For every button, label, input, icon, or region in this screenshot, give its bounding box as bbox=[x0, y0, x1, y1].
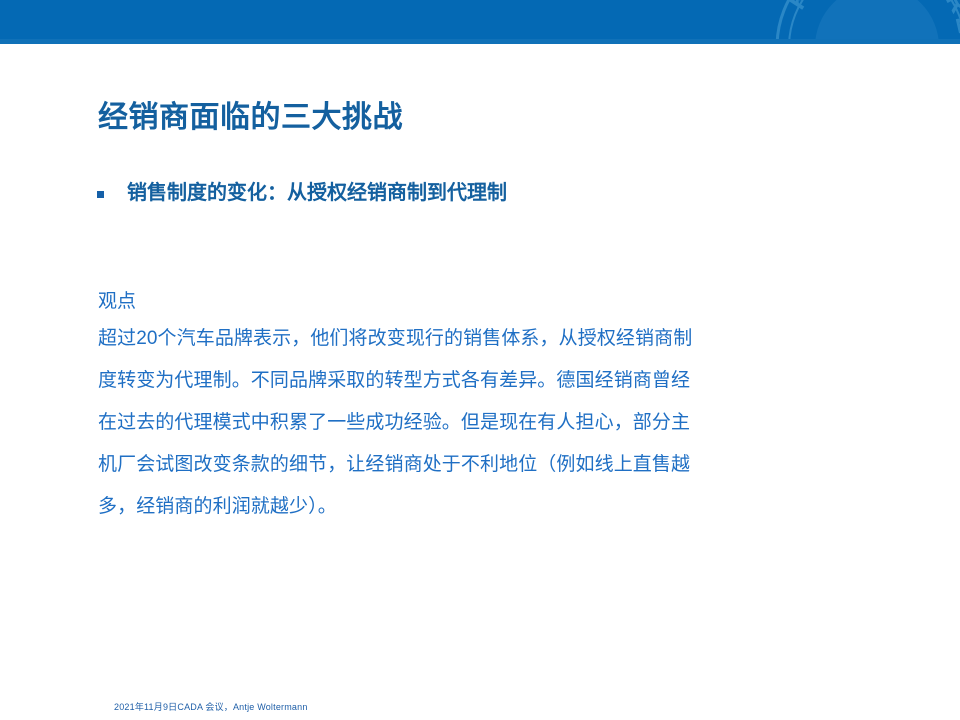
body-heading: 观点 bbox=[98, 287, 888, 316]
header-band: KRAFTFAHRZEUG bbox=[0, 0, 960, 44]
kraftfahrzeug-logo-watermark-icon: KRAFTFAHRZEUG bbox=[772, 0, 960, 44]
page-title: 经销商面临的三大挑战 bbox=[98, 92, 403, 136]
body-paragraph-line: 机厂会试图改变条款的细节，让经销商处于不利地位（例如线上直售越 bbox=[98, 444, 888, 486]
bullet-item-label: 销售制度的变化：从授权经销商制到代理制 bbox=[127, 181, 507, 205]
header-band-bottom-edge bbox=[0, 39, 960, 44]
square-bullet-icon bbox=[97, 191, 104, 198]
svg-text:KRAFTFAHRZEUG: KRAFTFAHRZEUG bbox=[772, 0, 960, 39]
body-paragraph-line: 超过20个汽车品牌表示，他们将改变现行的销售体系，从授权经销商制 bbox=[98, 318, 888, 360]
body-paragraph-line: 在过去的代理模式中积累了一些成功经验。但是现在有人担心，部分主 bbox=[98, 402, 888, 444]
bullet-item: 销售制度的变化：从授权经销商制到代理制 bbox=[97, 181, 507, 205]
body-paragraph-line: 多，经销商的利润就越少）。 bbox=[98, 486, 888, 528]
body-content: 观点 超过20个汽车品牌表示，他们将改变现行的销售体系，从授权经销商制 度转变为… bbox=[98, 287, 888, 528]
body-paragraph-line: 度转变为代理制。不同品牌采取的转型方式各有差异。德国经销商曾经 bbox=[98, 360, 888, 402]
slide-canvas: KRAFTFAHRZEUG 经销商面临的三大挑战 销售制度的变化：从授权经销商制… bbox=[0, 0, 960, 720]
slide-footer: 2021年11月9日CADA 会议，Antje Woltermann bbox=[114, 700, 308, 713]
